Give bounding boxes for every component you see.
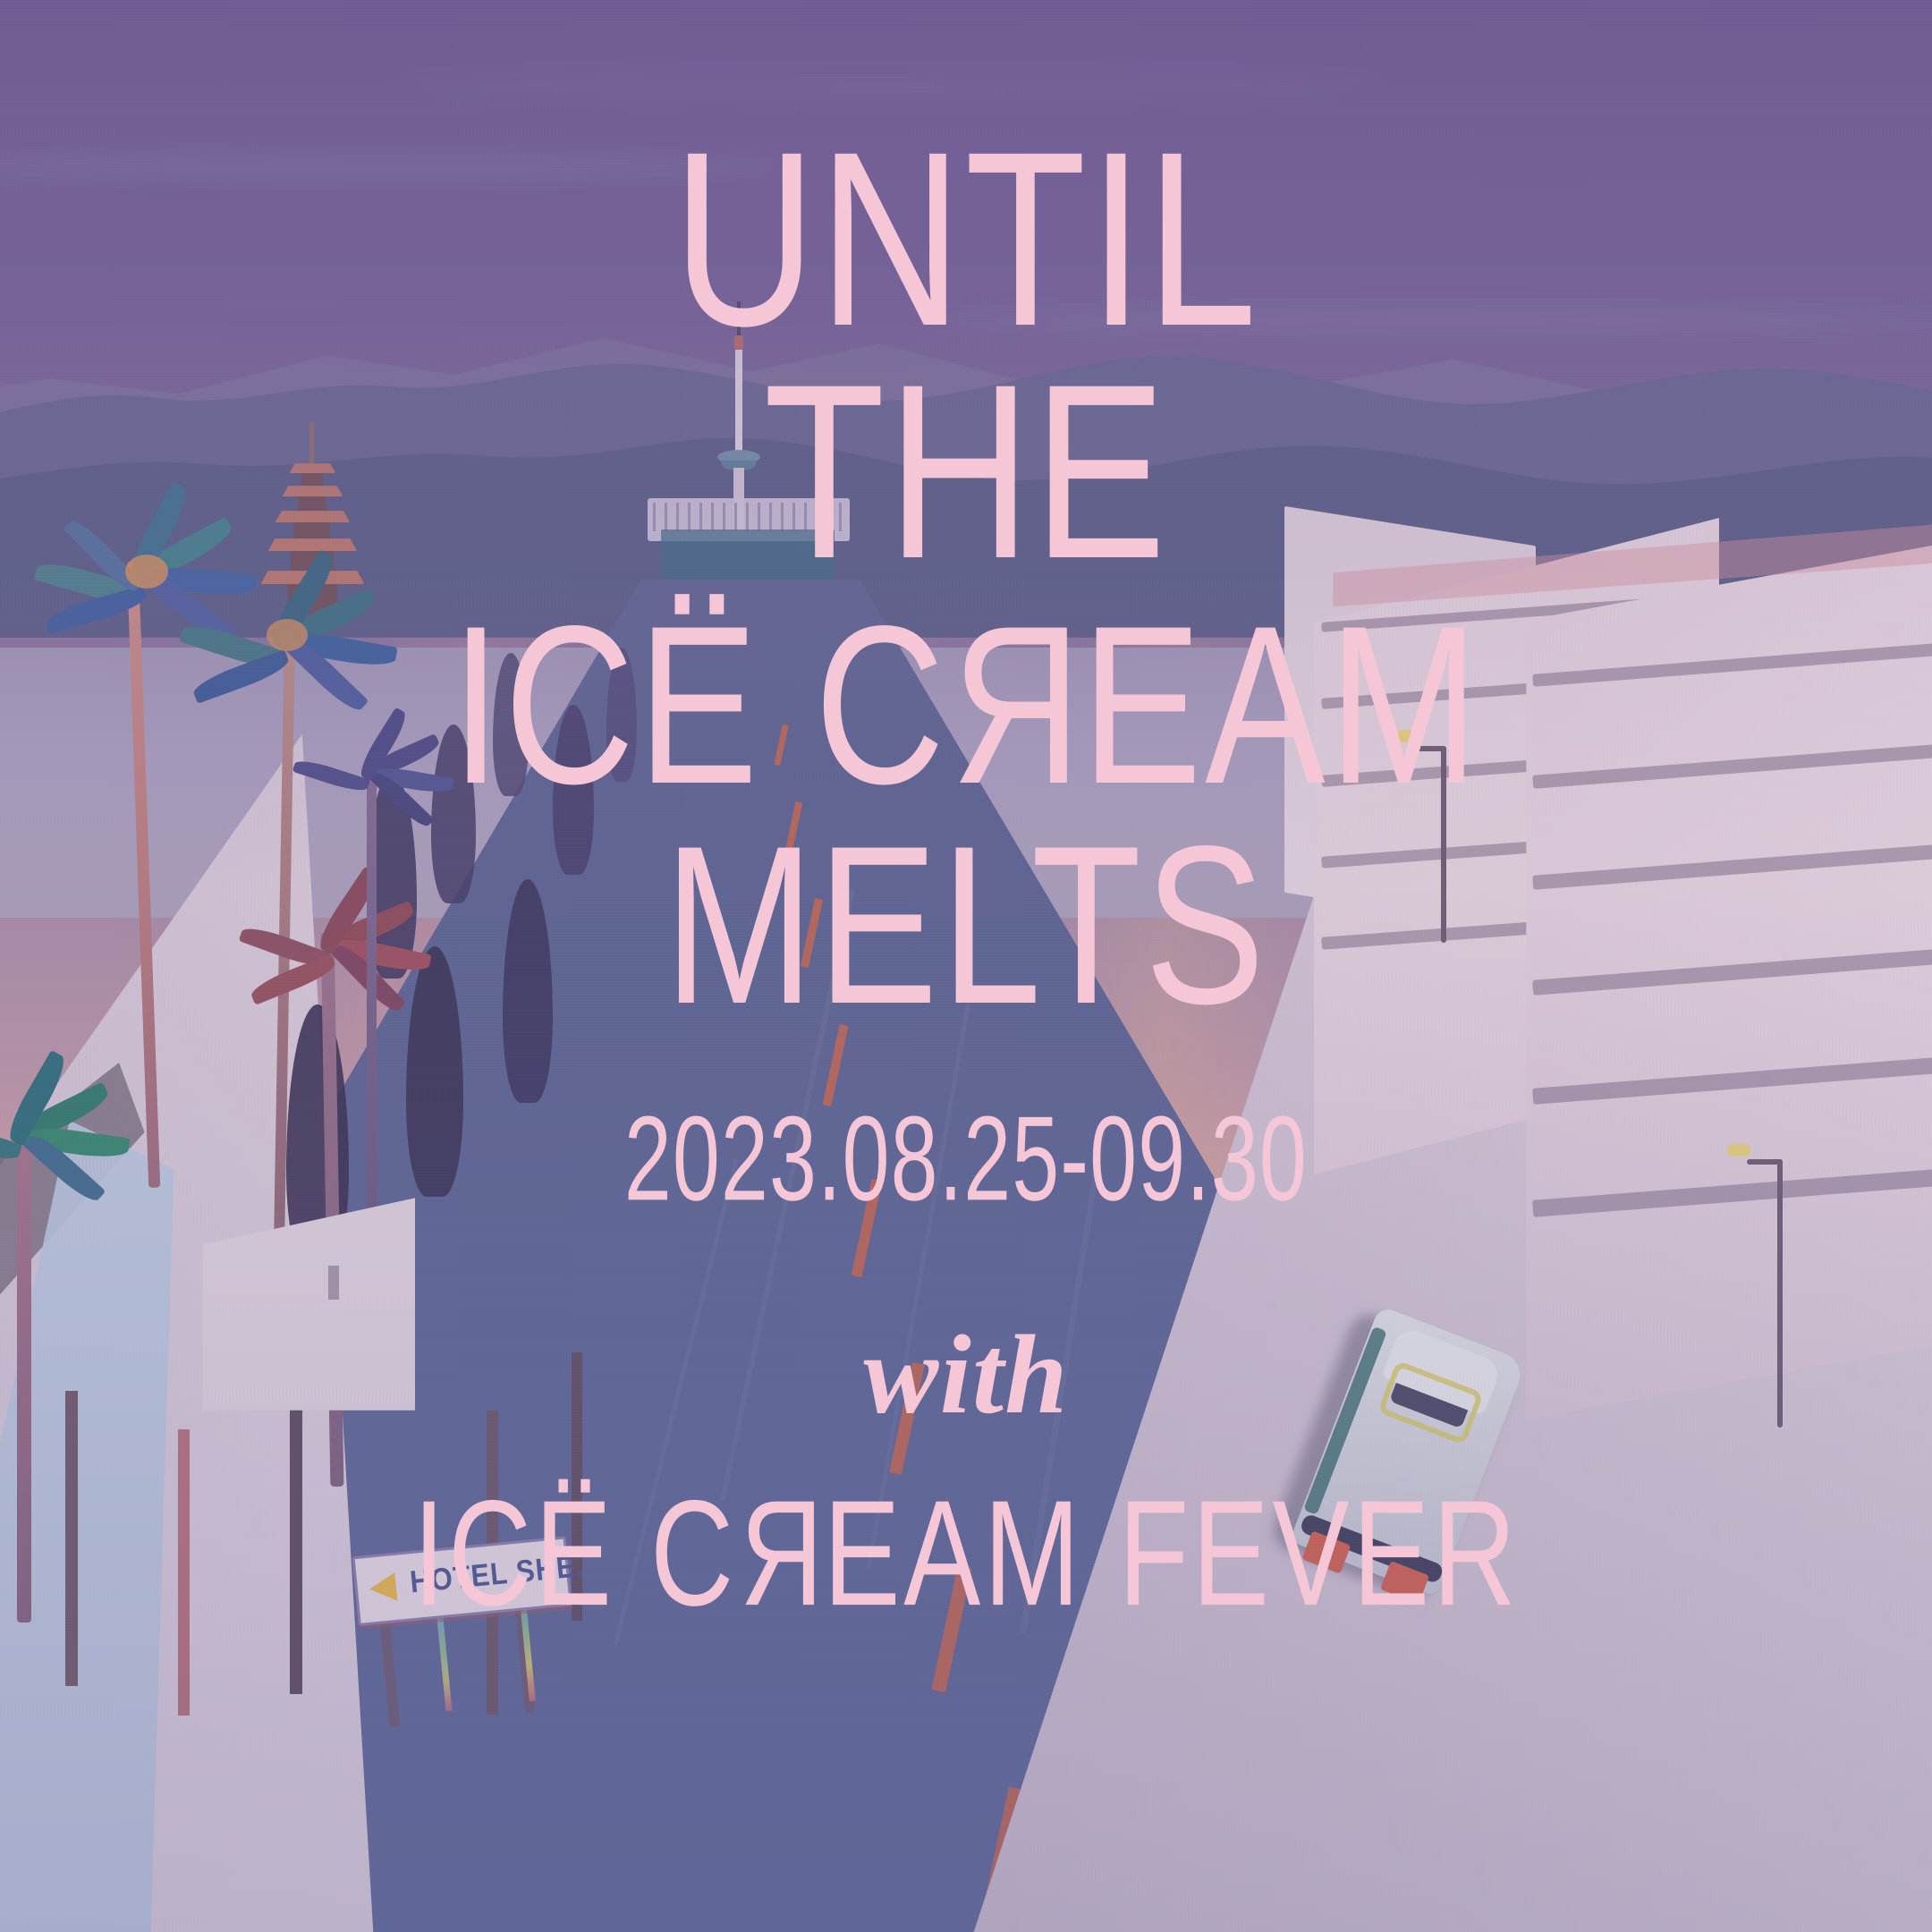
title-line-until: UNTIL xyxy=(673,134,1259,343)
title-line-the: THE xyxy=(764,367,1169,576)
collaborator-name: ICË CREAM FEVER xyxy=(413,1467,1520,1640)
reversed-r-glyph: R xyxy=(737,1467,824,1640)
with-label: with xyxy=(863,1311,1068,1440)
collab-eam-fever: EAM FEVER xyxy=(823,1469,1519,1637)
collab-ice-c: ICË C xyxy=(413,1469,737,1637)
reversed-r-glyph: R xyxy=(947,611,1080,801)
title-ice-c: ICË C xyxy=(451,580,948,831)
title-line-ice-cream: ICË CREAM xyxy=(451,611,1482,801)
poster-text-block: UNTIL THE ICË CREAM MELTS 2023.08.25-09.… xyxy=(0,0,1932,1932)
event-dates: 2023.08.25-09.30 xyxy=(624,1089,1308,1228)
title-line-melts: MELTS xyxy=(664,831,1267,1021)
poster-canvas: HOTEL SHE. UNTIL THE ICË CREAM MELTS 202… xyxy=(0,0,1932,1932)
title-eam: EAM xyxy=(1081,580,1482,831)
